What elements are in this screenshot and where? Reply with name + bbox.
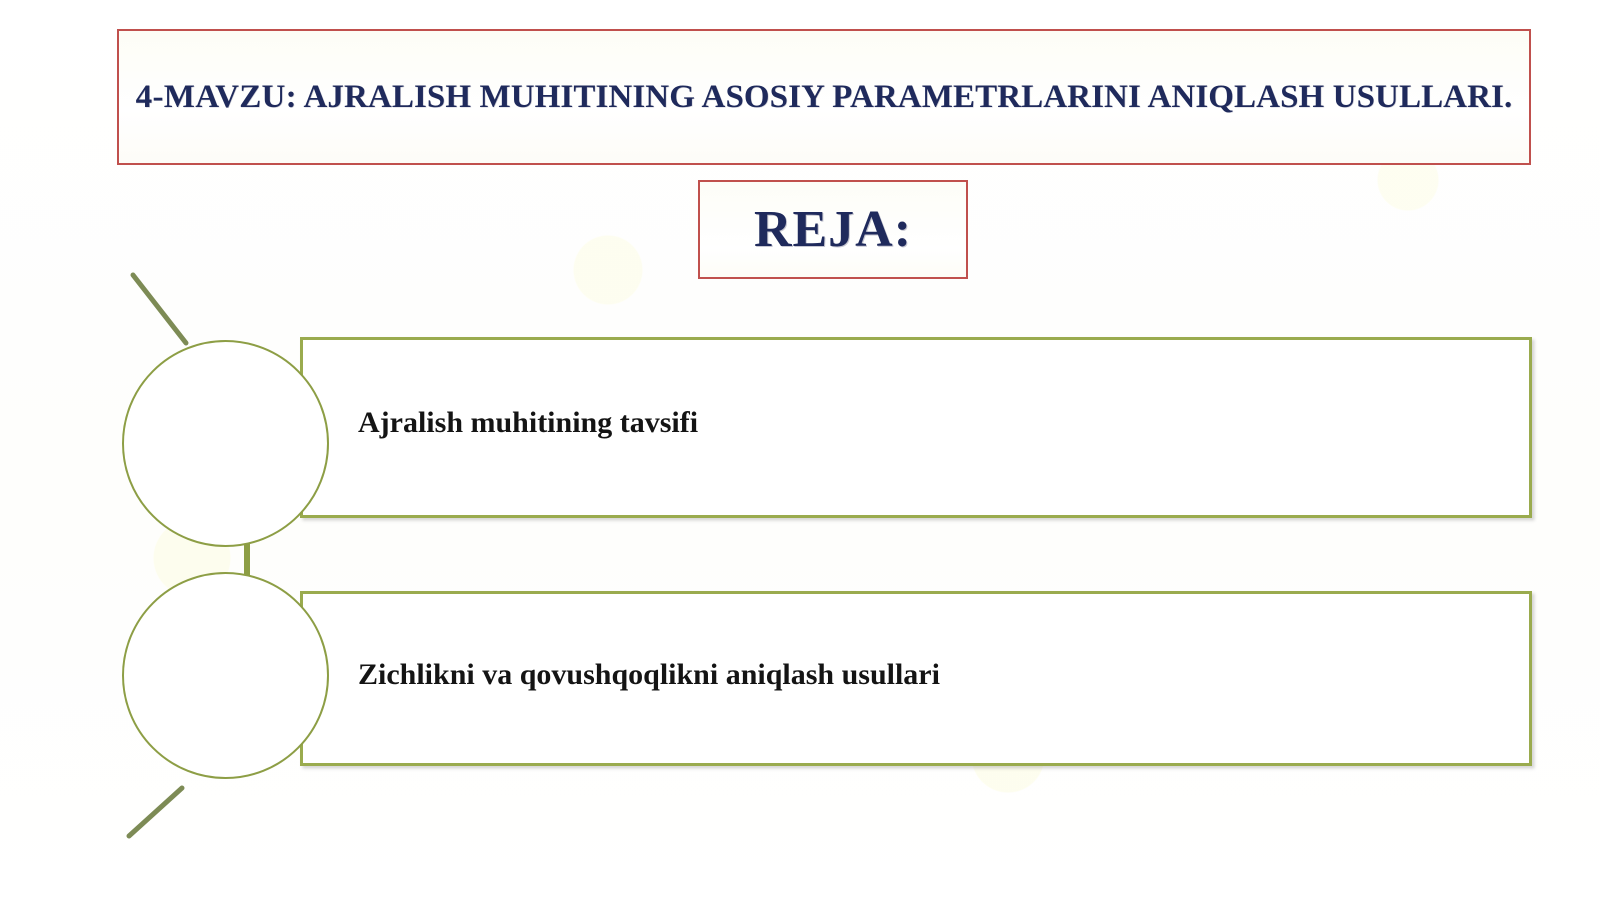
agenda-item-2[interactable]: Zichlikni va qovushqoqlikni aniqlash usu… [0, 0, 1600, 900]
agenda-item-2-bullet-circle[interactable] [122, 572, 329, 779]
agenda-item-2-label: Zichlikni va qovushqoqlikni aniqlash usu… [358, 658, 940, 692]
slide-canvas: 4-MAVZU: AJRALISH MUHITINING ASOSIY PARA… [0, 0, 1600, 900]
